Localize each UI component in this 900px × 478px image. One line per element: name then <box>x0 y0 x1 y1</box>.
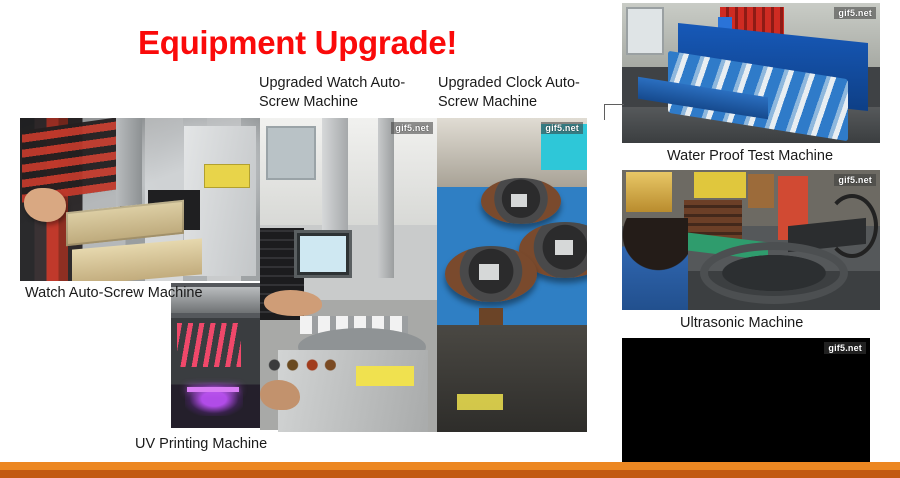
photo-detail <box>356 366 414 386</box>
callout-leader-line <box>604 104 605 120</box>
watermark-label: gif5.net <box>834 174 876 186</box>
photo-detail <box>555 240 573 255</box>
photo-detail <box>24 188 66 222</box>
photo-upgraded-clock-auto-screw-machine[interactable]: gif5.net <box>437 118 587 432</box>
photo-detail <box>294 230 352 278</box>
photo-uv-printing-machine[interactable] <box>171 283 260 428</box>
photo-detail <box>700 242 848 304</box>
photo-detail <box>511 194 527 207</box>
photo-detail <box>479 264 499 280</box>
caption-uv-printing-machine: UV Printing Machine <box>135 435 375 454</box>
photo-detail <box>378 118 394 278</box>
photo-detail <box>177 323 241 367</box>
photo-detail <box>264 290 322 316</box>
caption-ultrasonic-machine: Ultrasonic Machine <box>680 314 900 333</box>
photo-detail <box>437 325 587 432</box>
slide-canvas: Equipment Upgrade! gif5.net <box>0 0 900 478</box>
photo-detail <box>266 126 316 180</box>
photo-detail <box>187 387 239 392</box>
watermark-label: gif5.net <box>834 7 876 19</box>
photo-detail <box>116 118 142 208</box>
photo-detail <box>622 218 688 310</box>
caption-upgraded-watch-auto-screw-machine: Upgraded Watch Auto-Screw Machine <box>259 74 424 112</box>
photo-detail <box>266 354 336 376</box>
caption-watch-auto-screw-machine: Watch Auto-Screw Machine <box>25 284 205 303</box>
photo-detail <box>748 174 774 208</box>
photo-detail <box>457 394 503 410</box>
watermark-label: gif5.net <box>541 122 583 134</box>
photo-detail <box>626 172 672 212</box>
photo-detail <box>72 238 202 281</box>
watermark-label: gif5.net <box>824 342 866 354</box>
caption-upgraded-clock-auto-screw-machine: Upgraded Clock Auto-Screw Machine <box>438 74 603 112</box>
photo-watch-auto-screw-machine[interactable] <box>20 118 260 281</box>
photo-detail <box>204 164 250 188</box>
callout-leader-line <box>604 104 624 105</box>
photo-detail <box>66 200 184 246</box>
footer-accent-bar-dark <box>0 470 900 478</box>
photo-water-proof-test-machine[interactable]: gif5.net <box>622 3 880 143</box>
photo-detail <box>626 7 664 55</box>
photo-ultrasonic-machine[interactable]: gif5.net <box>622 170 880 310</box>
photo-black-video-panel[interactable]: gif5.net <box>622 338 870 478</box>
caption-water-proof-test-machine: Water Proof Test Machine <box>667 147 897 166</box>
photo-detail <box>826 194 878 258</box>
photo-detail <box>260 380 300 410</box>
page-title: Equipment Upgrade! <box>138 24 457 62</box>
footer-accent-bar-light <box>0 462 900 470</box>
photo-detail <box>694 172 746 198</box>
watermark-label: gif5.net <box>391 122 433 134</box>
photo-upgraded-watch-auto-screw-machine[interactable]: gif5.net <box>260 118 437 432</box>
